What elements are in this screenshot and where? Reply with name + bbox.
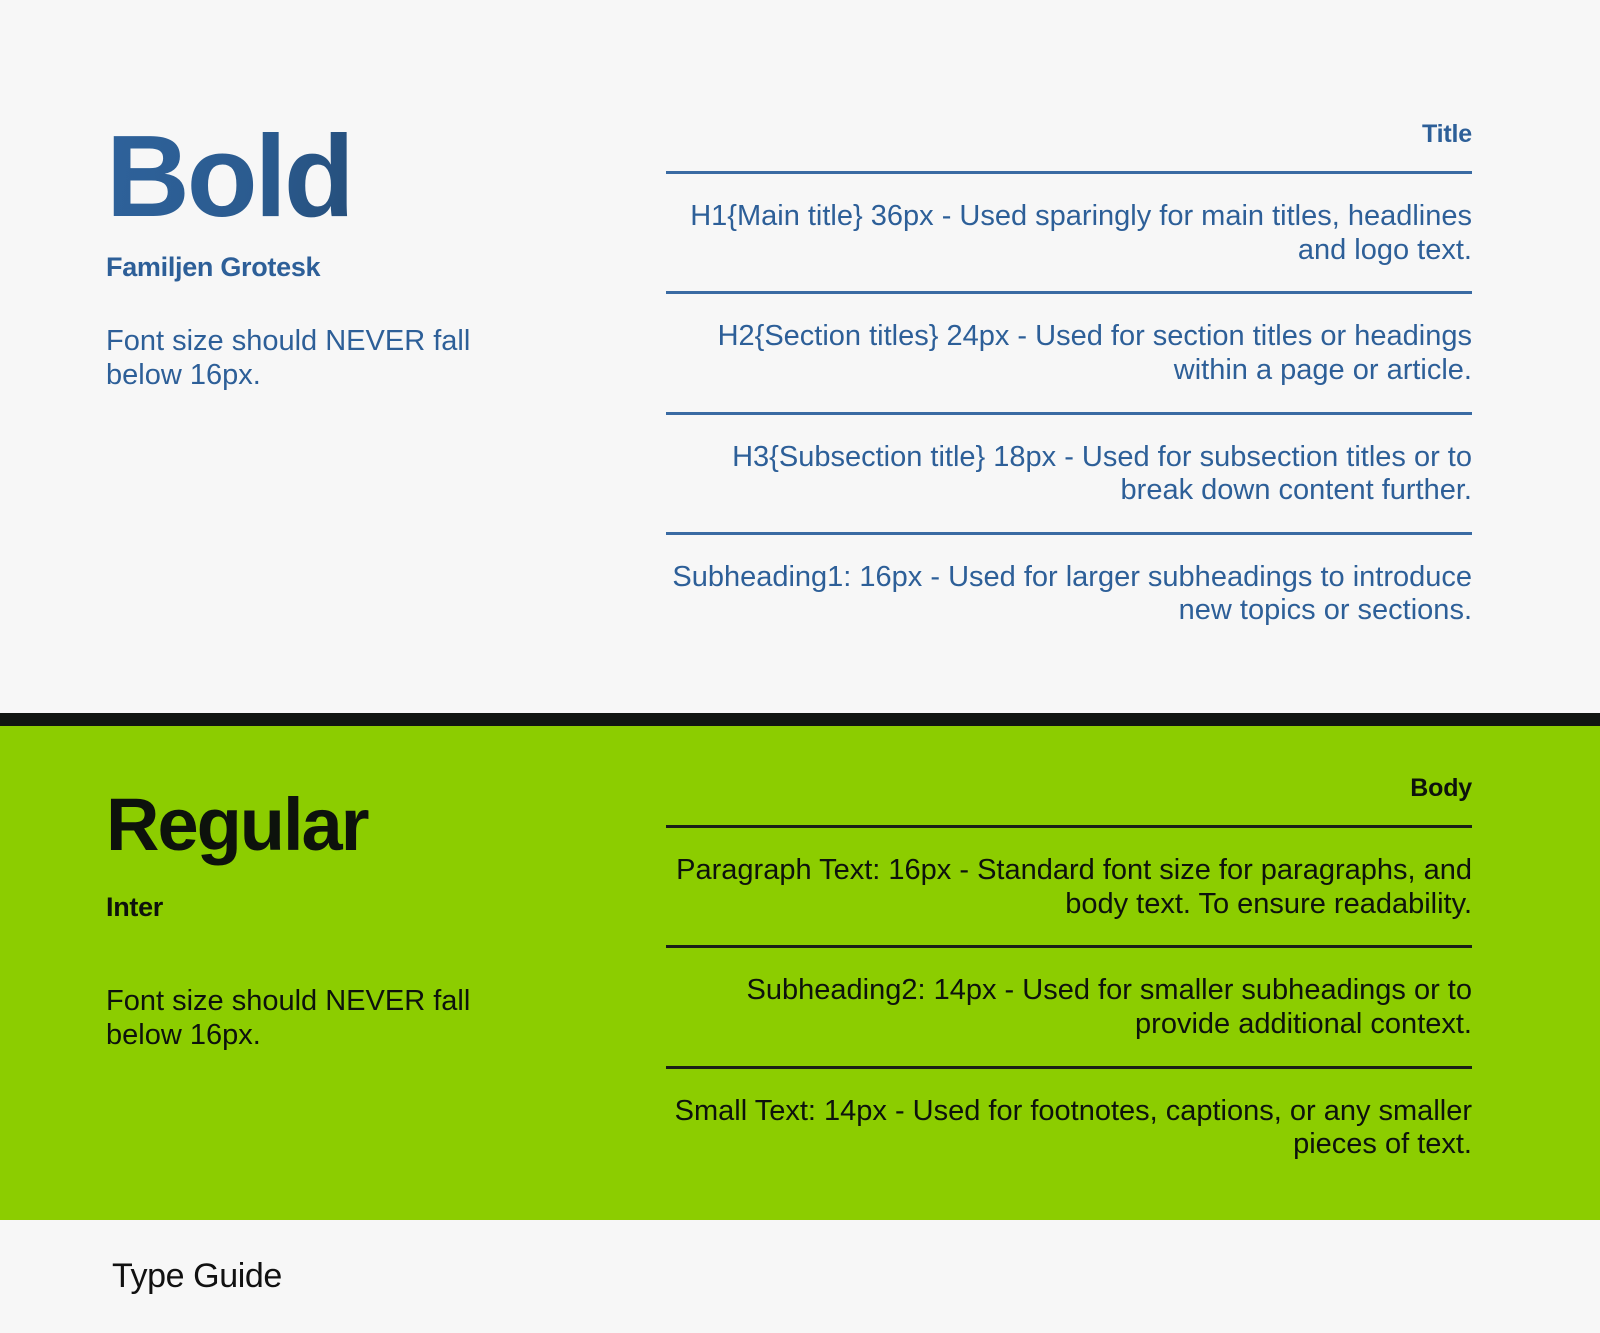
body-section: Regular Inter Font size should NEVER fal… bbox=[0, 726, 1600, 1220]
regular-specimen-word: Regular bbox=[106, 788, 666, 862]
scale-entry-subheading2: Subheading2: 14px - Used for smaller sub… bbox=[666, 948, 1472, 1065]
body-scale-label: Body bbox=[666, 774, 1472, 803]
footer-label: Type Guide bbox=[112, 1257, 282, 1296]
page-footer: Type Guide bbox=[0, 1220, 1600, 1333]
scale-entry-subheading1: Subheading1: 16px - Used for larger subh… bbox=[666, 535, 1472, 652]
body-scale-list: Body Paragraph Text: 16px - Standard fon… bbox=[666, 726, 1472, 1220]
bold-specimen: Bold Familjen Grotesk Font size should N… bbox=[106, 0, 666, 713]
title-scale-label: Title bbox=[666, 120, 1472, 149]
title-scale-list: Title H1{Main title} 36px - Used sparing… bbox=[666, 0, 1472, 713]
regular-specimen-note: Font size should NEVER fall below 16px. bbox=[106, 985, 526, 1053]
bold-specimen-note: Font size should NEVER fall below 16px. bbox=[106, 325, 526, 393]
scale-entry-h1: H1{Main title} 36px - Used sparingly for… bbox=[666, 174, 1472, 291]
regular-specimen: Regular Inter Font size should NEVER fal… bbox=[106, 726, 666, 1220]
scale-entry-small-text: Small Text: 14px - Used for footnotes, c… bbox=[666, 1069, 1472, 1186]
scale-entry-paragraph-text: Paragraph Text: 16px - Standard font siz… bbox=[666, 828, 1472, 945]
scale-entry-h3: H3{Subsection title} 18px - Used for sub… bbox=[666, 415, 1472, 532]
type-guide-page: Bold Familjen Grotesk Font size should N… bbox=[0, 0, 1600, 1333]
bold-specimen-family: Familjen Grotesk bbox=[106, 252, 666, 283]
scale-entry-h2: H2{Section titles} 24px - Used for secti… bbox=[666, 294, 1472, 411]
section-divider-bar bbox=[0, 713, 1600, 726]
title-section: Bold Familjen Grotesk Font size should N… bbox=[0, 0, 1600, 713]
regular-specimen-family: Inter bbox=[106, 892, 666, 923]
bold-specimen-word: Bold bbox=[106, 118, 666, 234]
